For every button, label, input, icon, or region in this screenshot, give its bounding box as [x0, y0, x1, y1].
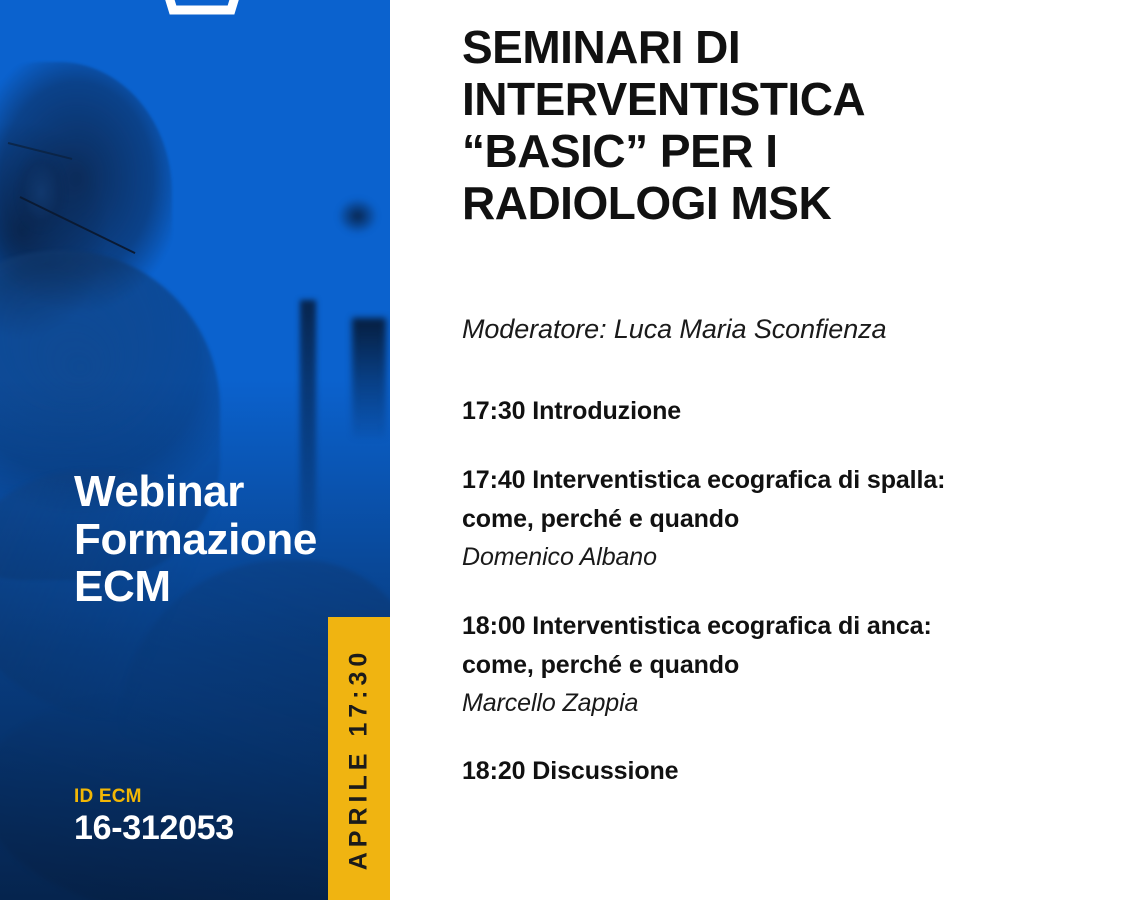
ecm-label: ID ECM [74, 786, 234, 808]
title-line-4: RADIOLOGI MSK [462, 178, 1062, 230]
program-speaker: Marcello Zappia [462, 685, 1082, 723]
program-schedule: 17:30 Introduzione 17:40 Interventistica… [462, 392, 1082, 791]
program-item: 17:40 Interventistica ecografica di spal… [462, 461, 1082, 577]
right-content-panel: SEMINARI DI INTERVENTISTICA “BASIC” PER … [390, 0, 1140, 900]
program-item: 18:20 Discussione [462, 752, 1082, 791]
title-line-3: “BASIC” PER I [462, 126, 1062, 178]
date-strip: APRILE 17:30 [328, 617, 390, 900]
webinar-flyer: Webinar Formazione ECM ID ECM 16-312053 … [0, 0, 1140, 900]
moderator-line: Moderatore: Luca Maria Sconfienza [462, 314, 886, 345]
ecm-id-block: ID ECM 16-312053 [74, 786, 234, 848]
program-item: 17:30 Introduzione [462, 392, 1082, 431]
title-line-1: SEMINARI DI [462, 22, 1062, 74]
headline-line-2: Formazione [74, 516, 374, 564]
panel-headline: Webinar Formazione ECM [74, 468, 374, 611]
program-line: come, perché e quando [462, 646, 1082, 685]
page-title: SEMINARI DI INTERVENTISTICA “BASIC” PER … [462, 22, 1062, 230]
program-speaker: Domenico Albano [462, 539, 1082, 577]
program-line: come, perché e quando [462, 500, 1082, 539]
left-blue-panel: Webinar Formazione ECM ID ECM 16-312053 … [0, 0, 390, 900]
ecm-number: 16-312053 [74, 808, 234, 848]
program-line: 17:30 Introduzione [462, 392, 1082, 431]
headline-line-3: ECM [74, 563, 374, 611]
headline-line-1: Webinar [74, 468, 374, 516]
title-line-2: INTERVENTISTICA [462, 74, 1062, 126]
program-line: 17:40 Interventistica ecografica di spal… [462, 461, 1082, 500]
hexagon-outline-logo-icon [143, 0, 261, 20]
program-line: 18:00 Interventistica ecografica di anca… [462, 607, 1082, 646]
program-line: 18:20 Discussione [462, 752, 1082, 791]
date-strip-text: APRILE 17:30 [345, 647, 374, 870]
program-item: 18:00 Interventistica ecografica di anca… [462, 607, 1082, 723]
